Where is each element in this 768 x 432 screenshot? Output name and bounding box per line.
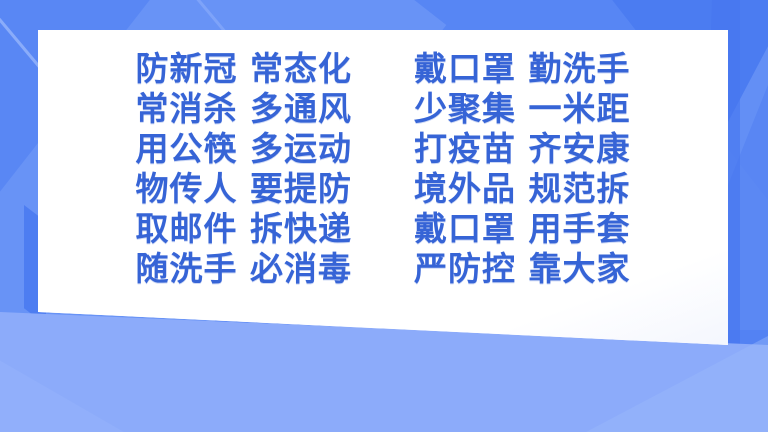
slogan-column-left: 防新冠 常态化 常消杀 多通风 用公筷 多运动 物传人 要提防 取邮件 拆快递 …	[136, 50, 353, 287]
slogan-board: 防新冠 常态化 常消杀 多通风 用公筷 多运动 物传人 要提防 取邮件 拆快递 …	[38, 30, 728, 312]
slogan-line: 常消杀 多通风	[136, 90, 353, 127]
slogan-line: 随洗手 必消毒	[136, 250, 353, 287]
slogan-line: 少聚集 一米距	[414, 90, 631, 127]
slogan-line: 用公筷 多运动	[136, 130, 353, 167]
poster-stage: 防新冠 常态化 常消杀 多通风 用公筷 多运动 物传人 要提防 取邮件 拆快递 …	[0, 0, 768, 432]
slogan-column-right: 戴口罩 勤洗手 少聚集 一米距 打疫苗 齐安康 境外品 规范拆 戴口罩 用手套 …	[414, 50, 631, 287]
slogan-line: 打疫苗 齐安康	[414, 130, 631, 167]
slogan-line: 物传人 要提防	[136, 170, 353, 207]
slogan-line: 防新冠 常态化	[136, 50, 353, 87]
slogan-line: 戴口罩 用手套	[414, 210, 631, 247]
slogan-line: 戴口罩 勤洗手	[414, 50, 631, 87]
slogan-line: 取邮件 拆快递	[136, 210, 353, 247]
slogan-line: 境外品 规范拆	[414, 170, 631, 207]
slogan-line: 严防控 靠大家	[414, 250, 631, 287]
